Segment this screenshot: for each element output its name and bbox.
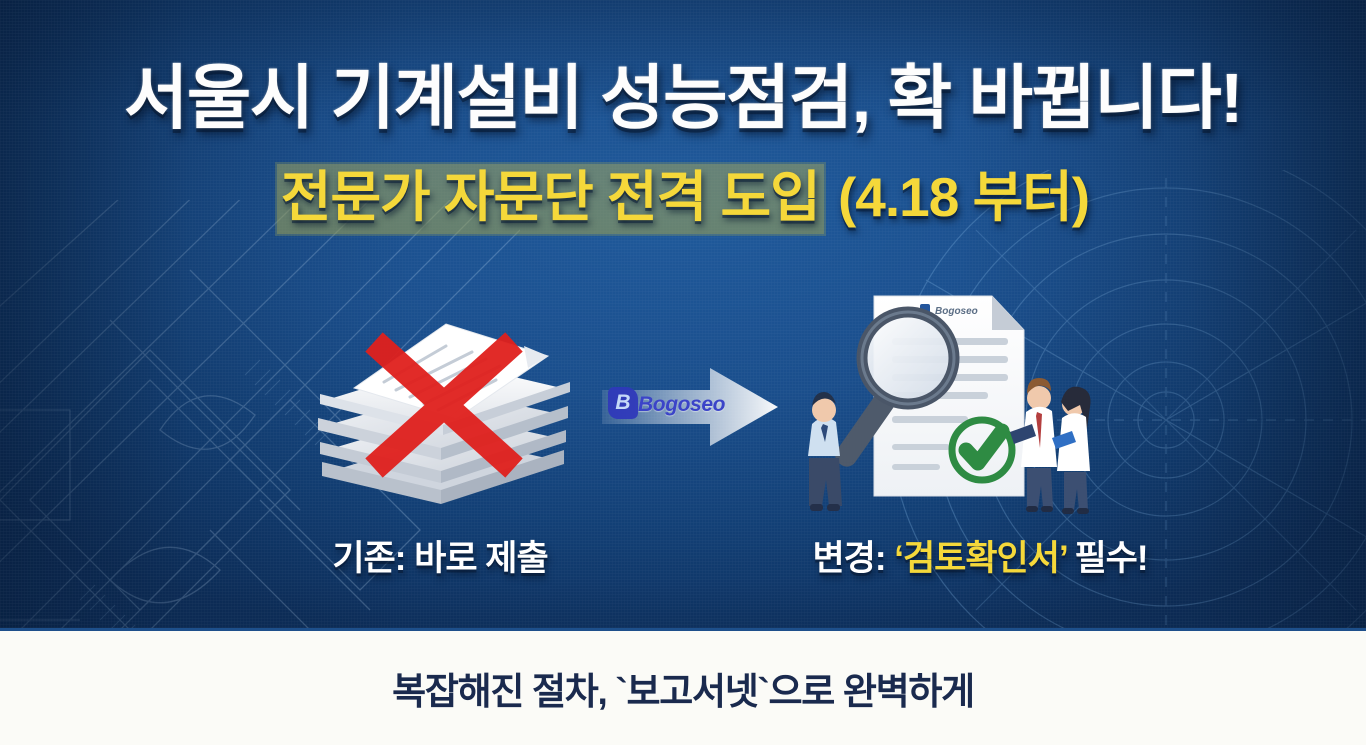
verified-document-scene-icon: Bogoseo — [796, 282, 1096, 522]
after-caption: 변경: ‘검토확인서’ 필수! — [600, 530, 1360, 581]
svg-text:Bogoseo: Bogoseo — [935, 306, 978, 317]
paper-stack-rejected-icon — [296, 302, 586, 517]
bogoseo-brand-mark-icon: B — [608, 387, 638, 419]
subheadline-container: 전문가 자문단 전격 도입 (4.18 부터) — [0, 168, 1366, 226]
after-caption-suffix: 필수! — [1067, 539, 1148, 578]
bottom-message-bar: 복잡해진 절차, `보고서넷`으로 완벽하게 — [0, 628, 1366, 745]
subheadline-highlighted-text: 전문가 자문단 전격 도입 — [277, 164, 824, 234]
subheadline-date-text: (4.18 부터) — [824, 166, 1089, 228]
poster-subheadline: 전문가 자문단 전격 도입 (4.18 부터) — [277, 168, 1089, 226]
before-illustration — [296, 302, 586, 517]
bogoseo-brand-text: Bogoseo — [638, 393, 725, 417]
after-caption-highlight: ‘검토확인서’ — [894, 539, 1066, 578]
expert-person-female-icon — [1052, 387, 1091, 514]
poster-headline: 서울시 기계설비 성능점검, 확 바뀝니다! — [124, 62, 1242, 135]
transition-arrow: B Bogoseo — [600, 364, 780, 450]
after-illustration: Bogoseo — [796, 282, 1096, 522]
headline-container: 서울시 기계설비 성능점검, 확 바뀝니다! — [0, 62, 1366, 135]
inspector-person-icon — [808, 392, 842, 511]
poster-canvas: 서울시 기계설비 성능점검, 확 바뀝니다! 전문가 자문단 전격 도입 (4.… — [0, 0, 1366, 745]
bottom-message-text: 복잡해진 절차, `보고서넷`으로 완벽하게 — [392, 661, 974, 715]
after-caption-prefix: 변경: — [812, 539, 894, 578]
